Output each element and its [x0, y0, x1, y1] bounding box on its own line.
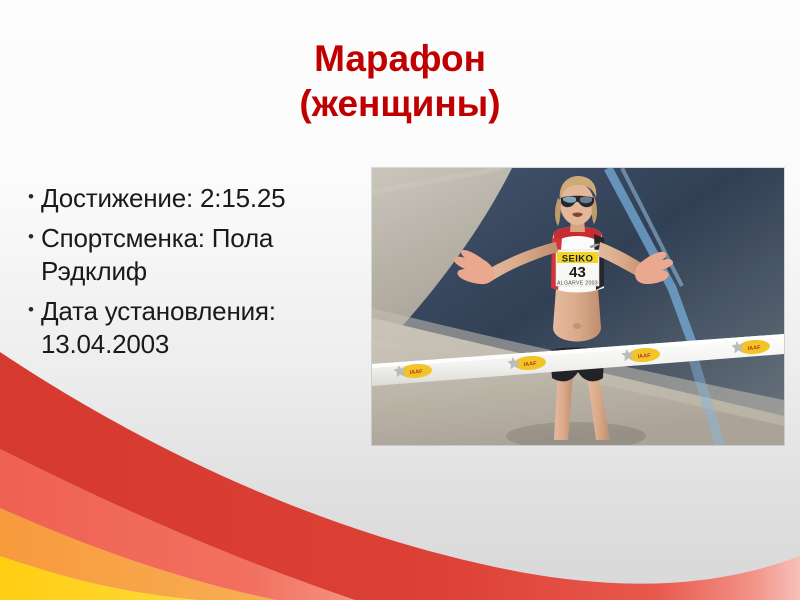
list-item: Дата установления: 13.04.2003 — [28, 295, 378, 361]
athlete-photo: SEIKO 43 ALGARVE 2003 — [372, 168, 784, 445]
bullet-list: Достижение: 2:15.25 Спортсменка: Пола Рэ… — [28, 182, 378, 368]
bullet-dot-icon — [28, 234, 40, 240]
page-title: Марафон (женщины) — [0, 36, 800, 126]
slide-canvas: Марафон (женщины) Достижение: 2:15.25 Сп… — [0, 0, 800, 600]
bullet-text: Спортсменка: Пола Рэдклиф — [41, 222, 378, 288]
list-item: Достижение: 2:15.25 — [28, 182, 378, 215]
bullet-text: Дата установления: 13.04.2003 — [41, 295, 378, 361]
list-item: Спортсменка: Пола Рэдклиф — [28, 222, 378, 288]
bullet-text: Достижение: 2:15.25 — [41, 182, 378, 215]
salmon-band — [0, 449, 355, 600]
title-line-1: Марафон — [0, 36, 800, 81]
bullet-dot-icon — [28, 307, 40, 313]
athlete-photo-artwork: SEIKO 43 ALGARVE 2003 — [372, 168, 784, 445]
yellow-band — [0, 556, 200, 600]
title-line-2: (женщины) — [0, 81, 800, 126]
orange-band — [0, 508, 276, 600]
bullet-dot-icon — [28, 194, 40, 200]
